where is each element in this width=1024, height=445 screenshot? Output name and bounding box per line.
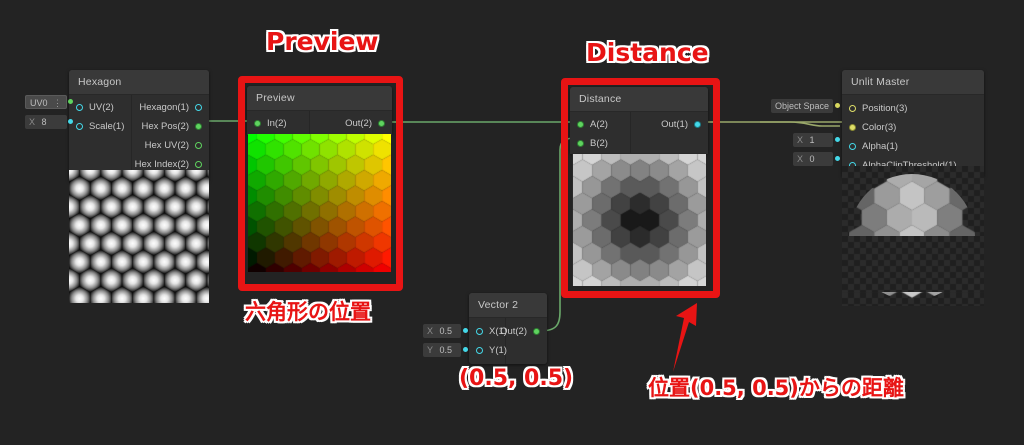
- node-unlit-master-ports: Position(3) Color(3) Alpha(1) AlphaClipT…: [842, 95, 984, 177]
- annotation-preview: Preview: [266, 27, 379, 56]
- annotation-distance: Distance: [586, 38, 709, 67]
- scale-field-dot[interactable]: [68, 119, 73, 124]
- node-vector2-title: Vector 2: [469, 293, 547, 318]
- port-label-hexuv-out: Hex UV(2): [145, 140, 189, 151]
- port-alpha[interactable]: Alpha(1): [842, 137, 1004, 156]
- alpha-value-field[interactable]: X 1: [793, 133, 833, 147]
- alpha-clip-value: 0: [810, 154, 815, 164]
- chevron-down-icon[interactable]: ⋮: [53, 96, 62, 110]
- port-label-vector2-out: Out(2): [500, 326, 527, 337]
- port-dot-hexpos-out[interactable]: [195, 123, 202, 130]
- port-hexpos-out[interactable]: Hex Pos(2): [111, 117, 209, 136]
- port-dot-hexindex-out[interactable]: [195, 161, 202, 168]
- port-dot-scale[interactable]: [76, 123, 83, 130]
- port-dot-vector2-out[interactable]: [533, 328, 540, 335]
- position-space-field[interactable]: Object Space: [771, 99, 833, 113]
- annotation-hexagon-position: 六角形の位置: [245, 296, 371, 326]
- port-color[interactable]: Color(3): [842, 118, 1004, 137]
- port-label-hexagon-out: Hexagon(1): [139, 102, 189, 113]
- vector2-y-field-dot[interactable]: [463, 347, 468, 352]
- vector2-y-field[interactable]: Y 0.5: [423, 343, 461, 357]
- port-hexuv-out[interactable]: Hex UV(2): [111, 136, 209, 155]
- port-label-position: Position(3): [862, 103, 907, 114]
- uv-channel-value: UV0: [30, 98, 48, 108]
- vector2-x-axis-label: X: [427, 326, 433, 336]
- alpha-clip-field-dot[interactable]: [835, 156, 840, 161]
- transparency-checker-strip: [842, 236, 984, 292]
- port-label-vector2-y: Y(1): [489, 345, 507, 356]
- uv-field-dot[interactable]: [68, 99, 73, 104]
- alpha-clip-threshold-field[interactable]: X 0: [793, 152, 833, 166]
- scale-value-field[interactable]: X 8: [25, 115, 67, 129]
- vector2-x-value: 0.5: [440, 326, 453, 336]
- port-label-hexpos-out: Hex Pos(2): [141, 121, 189, 132]
- distance-highlight-box: [561, 78, 720, 298]
- port-hexagon-out[interactable]: Hexagon(1): [111, 98, 209, 117]
- node-hexagon-ports: UV(2) Scale(1) Hexagon(1) Hex Pos(2) Hex…: [69, 95, 209, 181]
- annotation-distance-from-position: 位置(0.5, 0.5)からの距離: [648, 372, 904, 402]
- node-vector2-ports: X(1) Y(1) Out(2): [469, 318, 547, 364]
- preview-highlight-box: [238, 76, 403, 291]
- node-unlit-master-title: Unlit Master: [842, 70, 984, 95]
- port-label-hexindex-out: Hex Index(2): [135, 159, 189, 170]
- annotation-vector-value: (0.5, 0.5): [459, 366, 573, 391]
- shader-graph-canvas[interactable]: Hexagon UV(2) Scale(1) Hexagon(1) Hex Po…: [0, 0, 1024, 445]
- port-label-color: Color(3): [862, 122, 896, 133]
- port-dot-color[interactable]: [849, 124, 856, 131]
- port-dot-vector2-y[interactable]: [476, 347, 483, 354]
- node-hexagon-title: Hexagon: [69, 70, 209, 95]
- alpha-clip-axis-label: X: [797, 154, 803, 164]
- alpha-axis-label: X: [797, 135, 803, 145]
- scale-axis-label: X: [29, 117, 35, 127]
- uv-channel-field[interactable]: UV0 ⋮: [25, 95, 67, 109]
- vector2-x-field[interactable]: X 0.5: [423, 324, 461, 338]
- vector2-y-value: 0.5: [440, 345, 453, 355]
- node-vector2[interactable]: Vector 2 X(1) Y(1) Out(2): [469, 293, 547, 364]
- port-position[interactable]: Position(3): [842, 99, 1004, 118]
- alpha-field-dot[interactable]: [835, 137, 840, 142]
- hexagon-preview-thumb: [69, 170, 209, 303]
- node-unlit-master[interactable]: Unlit Master Position(3) Color(3) Alpha(…: [842, 70, 984, 177]
- vector2-y-axis-label: Y: [427, 345, 433, 355]
- red-arrow-icon: [673, 303, 697, 372]
- port-vector2-out[interactable]: Out(2): [483, 322, 547, 341]
- position-field-dot[interactable]: [835, 103, 840, 108]
- port-dot-alpha[interactable]: [849, 143, 856, 150]
- vector2-x-field-dot[interactable]: [463, 328, 468, 333]
- port-dot-uv[interactable]: [76, 104, 83, 111]
- position-space-value: Object Space: [775, 101, 829, 111]
- node-hexagon[interactable]: Hexagon UV(2) Scale(1) Hexagon(1) Hex Po…: [69, 70, 209, 181]
- port-vector2-y[interactable]: Y(1): [469, 341, 525, 360]
- alpha-value: 1: [810, 135, 815, 145]
- port-dot-hexuv-out[interactable]: [195, 142, 202, 149]
- port-dot-vector2-x[interactable]: [476, 328, 483, 335]
- port-label-alpha: Alpha(1): [862, 141, 898, 152]
- scale-value: 8: [42, 117, 47, 127]
- port-dot-position[interactable]: [849, 105, 856, 112]
- port-dot-hexagon-out[interactable]: [195, 104, 202, 111]
